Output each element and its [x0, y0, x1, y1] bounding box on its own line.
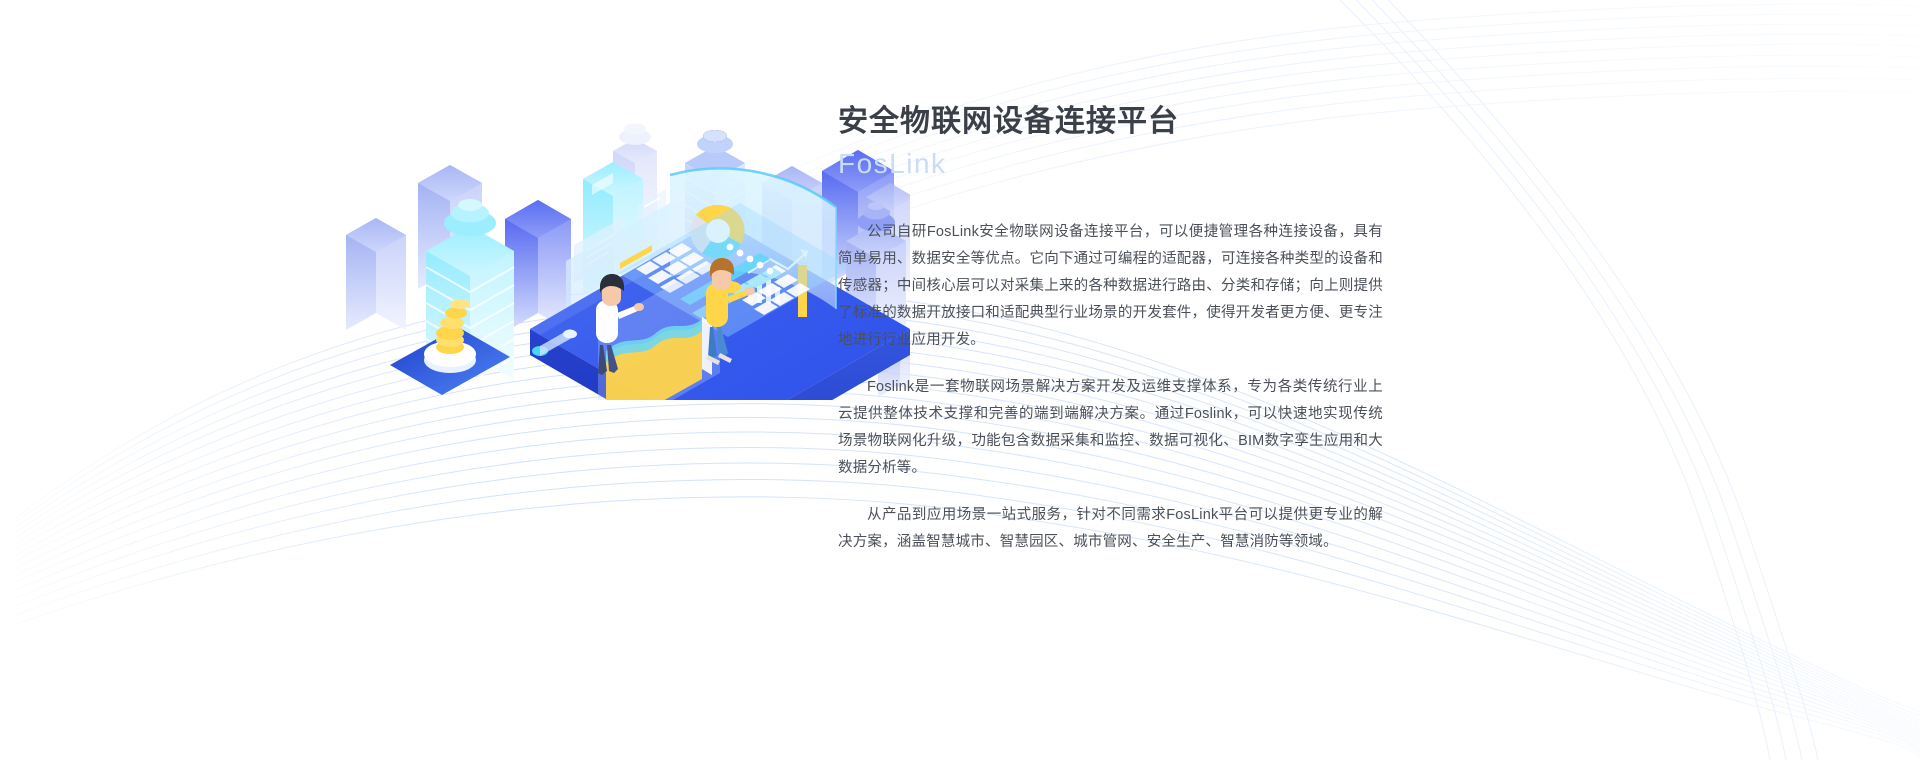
- page-title: 安全物联网设备连接平台: [838, 104, 1578, 140]
- paragraph-1: 公司自研FosLink安全物联网设备连接平台，可以便捷管理各种连接设备，具有简单…: [838, 219, 1383, 354]
- paragraph-2: Foslink是一套物联网场景解决方案开发及运维支撑体系，专为各类传统行业上云提…: [838, 374, 1383, 482]
- iot-platform-illustration: [330, 55, 910, 400]
- description-block: 公司自研FosLink安全物联网设备连接平台，可以便捷管理各种连接设备，具有简单…: [838, 219, 1578, 556]
- product-name-subtitle: FosLink: [838, 146, 1578, 181]
- hero-text-column: 安全物联网设备连接平台 FosLink 公司自研FosLink安全物联网设备连接…: [838, 104, 1578, 556]
- hero-section: 安全物联网设备连接平台 FosLink 公司自研FosLink安全物联网设备连接…: [0, 0, 1920, 760]
- paragraph-3: 从产品到应用场景一站式服务，针对不同需求FosLink平台可以提供更专业的解决方…: [838, 502, 1383, 556]
